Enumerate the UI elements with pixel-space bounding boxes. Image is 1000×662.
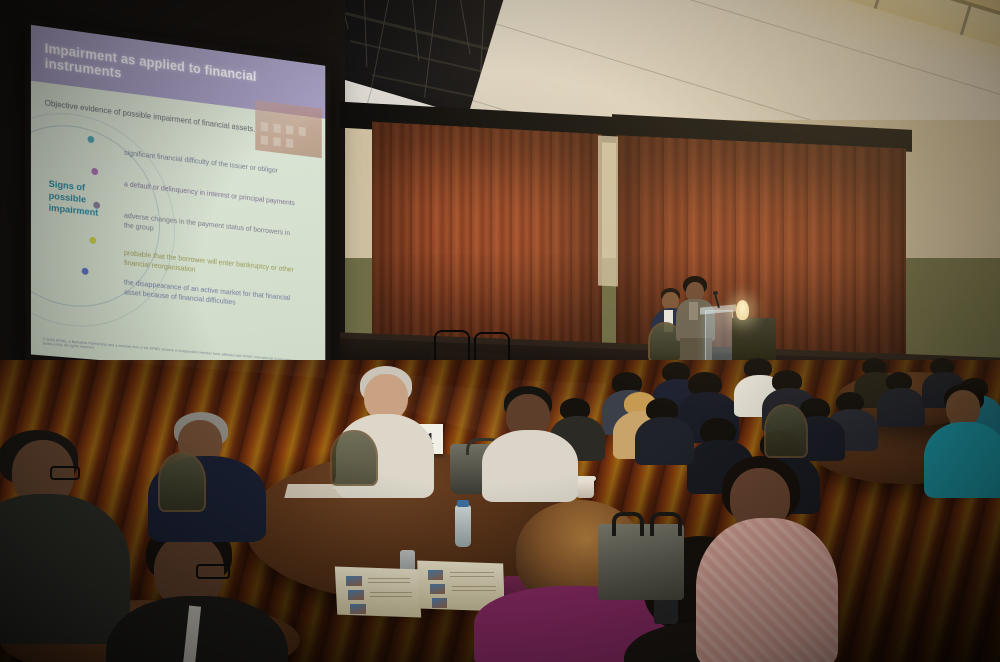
audience-torso bbox=[877, 388, 925, 427]
wall-gap-strip bbox=[598, 135, 618, 286]
slide-bullet-dot-1 bbox=[88, 136, 95, 144]
water-bottle-1 bbox=[455, 505, 471, 547]
booklet-photo-6 bbox=[432, 598, 447, 608]
banquet-chair-right bbox=[764, 404, 808, 458]
handbag-handle-right bbox=[650, 512, 682, 536]
booklet-photo-4 bbox=[428, 570, 443, 580]
booklet-photo-2 bbox=[348, 590, 364, 600]
eyeglasses-2 bbox=[196, 564, 230, 579]
slide-bullet-dot-4 bbox=[89, 237, 96, 245]
presenter-blouse bbox=[689, 302, 698, 320]
slide-bullet-dot-2 bbox=[91, 168, 98, 176]
conference-room-photo: Impairment as applied to financial instr… bbox=[0, 0, 1000, 662]
slide-bullet-dot-3 bbox=[93, 201, 100, 209]
banquet-chair-left bbox=[158, 452, 206, 512]
audience-torso bbox=[635, 417, 694, 465]
booklet-photo-5 bbox=[430, 584, 445, 594]
water-bottle-cap-1 bbox=[457, 500, 469, 507]
projection-screen-frame: Impairment as applied to financial instr… bbox=[25, 18, 331, 384]
stage-curtain-left bbox=[372, 122, 602, 364]
handbag-handle-left bbox=[612, 512, 644, 536]
projection-screen: Impairment as applied to financial instr… bbox=[31, 25, 325, 378]
microphone-head bbox=[713, 291, 718, 295]
eyeglasses bbox=[50, 466, 80, 480]
banquet-chair-center bbox=[330, 430, 378, 486]
av-side-table bbox=[732, 318, 776, 362]
podium-lamp bbox=[736, 300, 749, 320]
slide-bullet-dot-5 bbox=[82, 268, 89, 276]
slide-bullet-text-5: the disappearance of an active market fo… bbox=[124, 278, 299, 313]
booklet-photo-3 bbox=[350, 604, 366, 614]
coffee-cup-3 bbox=[576, 479, 594, 498]
booklet-photo-1 bbox=[346, 576, 362, 586]
